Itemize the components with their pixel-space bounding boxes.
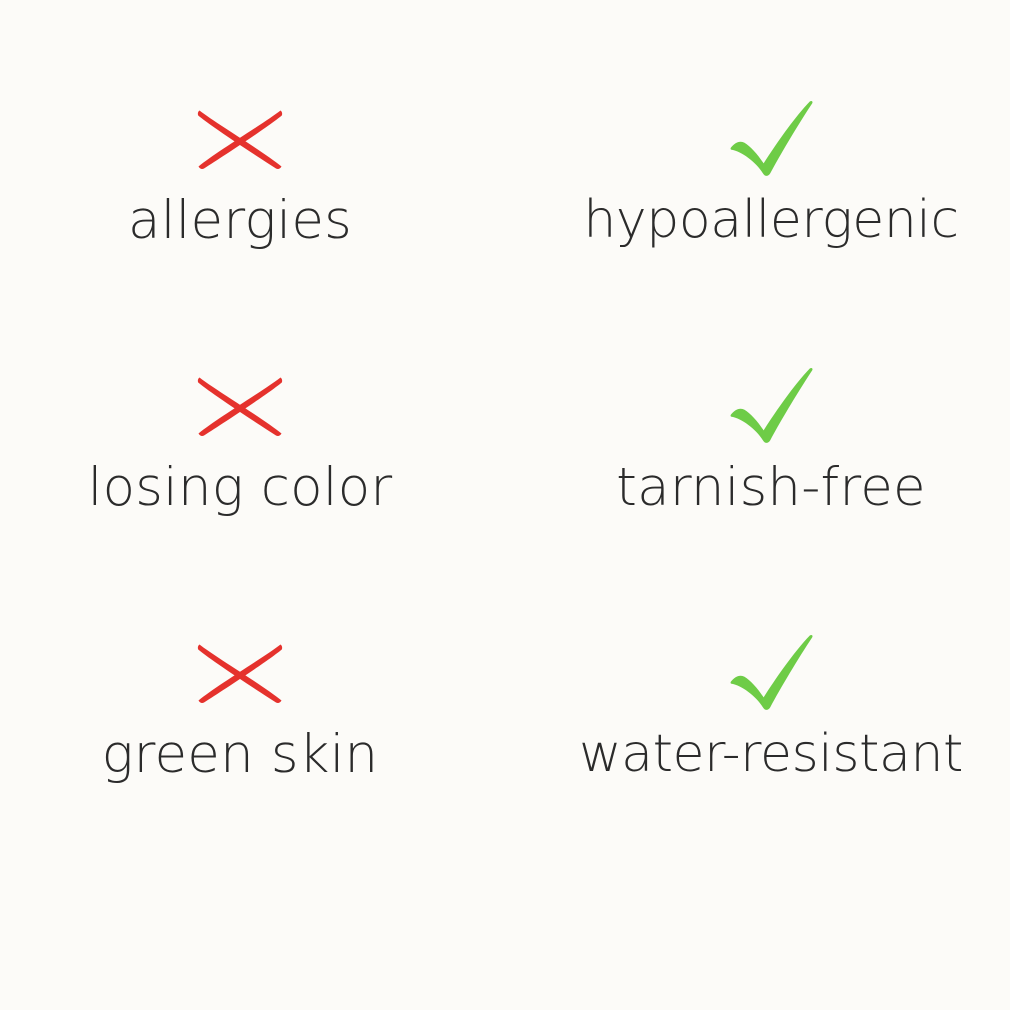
feature-cell-con-green-skin: green skin xyxy=(0,630,505,897)
check-icon xyxy=(723,96,819,180)
feature-cell-con-losing-color: losing color xyxy=(0,363,505,630)
cross-icon xyxy=(192,363,288,447)
feature-label: losing color xyxy=(88,460,393,516)
feature-cell-pro-tarnish-free: tarnish-free xyxy=(505,363,1010,630)
check-icon xyxy=(723,363,819,447)
feature-label: green skin xyxy=(102,727,379,783)
comparison-board: allergies hypoallergenic losing color xyxy=(0,0,1010,1010)
feature-cell-con-allergies: allergies xyxy=(0,96,505,363)
feature-label: water-resistant xyxy=(579,727,963,782)
feature-label: allergies xyxy=(128,193,352,249)
feature-cell-pro-hypoallergenic: hypoallergenic xyxy=(505,96,1010,363)
feature-comparison-grid: allergies hypoallergenic losing color xyxy=(0,96,1010,897)
feature-cell-pro-water-resistant: water-resistant xyxy=(505,630,1010,897)
feature-label: tarnish-free xyxy=(616,460,926,516)
cross-icon xyxy=(192,96,288,180)
check-icon xyxy=(723,630,819,714)
feature-label: hypoallergenic xyxy=(583,193,958,248)
cross-icon xyxy=(192,630,288,714)
